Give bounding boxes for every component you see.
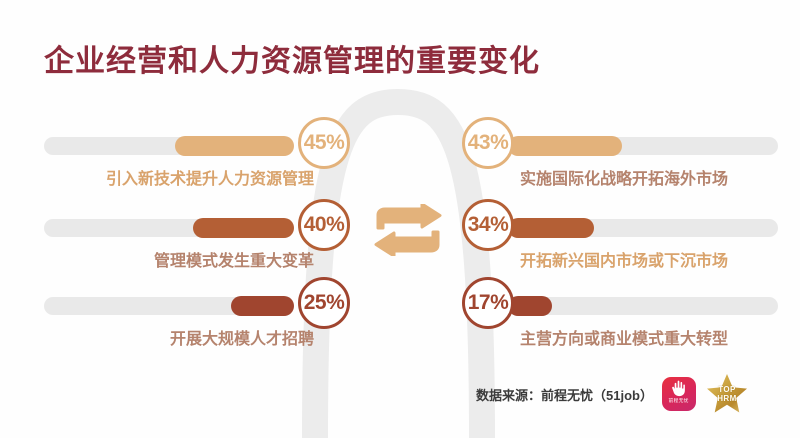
bar-track-wrapper: 40%: [40, 213, 350, 243]
stat-label: 管理模式发生重大变革: [154, 247, 314, 271]
stat-row-left-2: 40% 管理模式发生重大变革: [40, 213, 350, 289]
logo-51job-label: 前程无忧: [669, 398, 689, 404]
value-bubble: 40%: [298, 199, 350, 251]
value-bubble: 34%: [462, 199, 514, 251]
stat-label: 开展大规模人才招聘: [170, 325, 314, 349]
value-label: 25%: [304, 291, 345, 315]
bar-fill: [175, 136, 294, 156]
logo-51job: 前程无忧: [662, 377, 696, 411]
star-label-line2: HRM: [705, 395, 749, 404]
stat-row-left-3: 25% 开展大规模人才招聘: [40, 291, 350, 367]
value-label: 43%: [468, 131, 509, 155]
star-label: TOP HRM: [705, 386, 749, 403]
source-text: 数据来源：前程无忧（51job）: [476, 385, 653, 404]
stat-row-left-1: 45% 引入新技术提升人力资源管理: [40, 131, 350, 207]
page-title: 企业经营和人力资源管理的重要变化: [44, 36, 540, 80]
bar-track-wrapper: 34%: [462, 213, 780, 243]
value-bubble: 17%: [462, 277, 514, 329]
value-label: 40%: [304, 213, 345, 237]
bar-track: [514, 297, 778, 315]
stat-label: 开拓新兴国内市场或下沉市场: [520, 247, 728, 271]
hand-icon: [670, 379, 687, 398]
stat-row-right-3: 17% 主营方向或商业模式重大转型: [462, 291, 780, 367]
logo-top-hrm: TOP HRM: [705, 373, 749, 415]
stat-row-right-1: 43% 实施国际化战略开拓海外市场: [462, 131, 780, 207]
stat-label: 主营方向或商业模式重大转型: [520, 325, 728, 349]
infographic-poster: 企业经营和人力资源管理的重要变化 45% 引入新技术提升人力资源管理 40% 管…: [0, 0, 800, 438]
bar-track-wrapper: 45%: [40, 131, 350, 161]
bar-fill: [231, 296, 294, 316]
bar-fill: [508, 136, 622, 156]
bar-fill: [508, 218, 594, 238]
stat-label: 引入新技术提升人力资源管理: [106, 165, 314, 189]
value-bubble: 43%: [462, 117, 514, 169]
bar-fill: [508, 296, 552, 316]
value-bubble: 25%: [298, 277, 350, 329]
value-label: 17%: [468, 291, 509, 315]
exchange-arrows-icon: [372, 204, 444, 256]
value-bubble: 45%: [298, 117, 350, 169]
value-label: 45%: [304, 131, 345, 155]
value-label: 34%: [468, 213, 509, 237]
bar-fill: [193, 218, 294, 238]
stat-label: 实施国际化战略开拓海外市场: [520, 165, 728, 189]
footer-source: 数据来源：前程无忧（51job） 前程无忧 TO: [476, 372, 749, 416]
bar-track-wrapper: 17%: [462, 291, 780, 321]
stat-row-right-2: 34% 开拓新兴国内市场或下沉市场: [462, 213, 780, 289]
bar-track-wrapper: 43%: [462, 131, 780, 161]
bar-track-wrapper: 25%: [40, 291, 350, 321]
